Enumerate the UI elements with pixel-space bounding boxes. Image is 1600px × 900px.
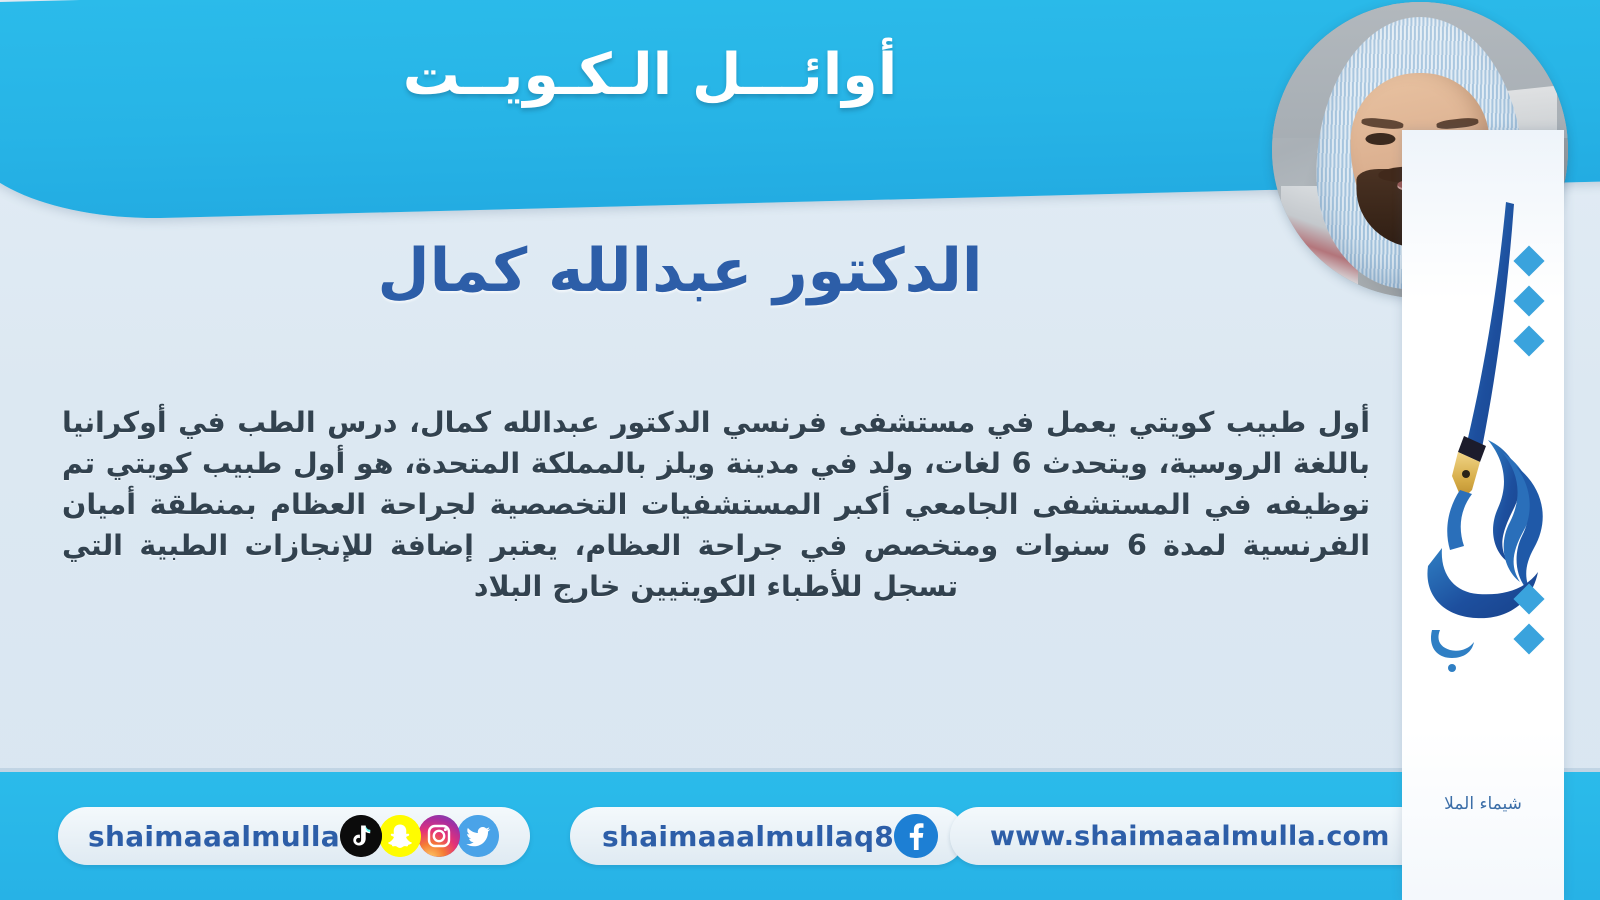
calligraphy-pen-logo-icon bbox=[1402, 190, 1564, 710]
diamond-dot-3 bbox=[1513, 325, 1544, 356]
social-handle-text: shaimaaalmulla bbox=[88, 820, 340, 853]
twitter-icon[interactable] bbox=[457, 815, 499, 857]
nib-vent-hole bbox=[1462, 470, 1470, 478]
brand-logo-panel: شيماء الملا bbox=[1402, 130, 1564, 900]
facebook-icon[interactable] bbox=[894, 814, 938, 858]
eye-left bbox=[1366, 133, 1395, 145]
facebook-handle-pill[interactable]: shaimaaalmullaq8 bbox=[570, 807, 965, 865]
footer-band: shaimaaalmulla shaimaaalmullaq8 www.shai… bbox=[0, 772, 1600, 900]
facebook-handle-text: shaimaaalmullaq8 bbox=[602, 820, 894, 853]
tiktok-icon[interactable] bbox=[340, 815, 382, 857]
eyebrow-right bbox=[1436, 117, 1478, 130]
instagram-icon[interactable] bbox=[418, 815, 460, 857]
diamond-dot-5 bbox=[1513, 623, 1544, 654]
website-url-text: www.shaimaaalmulla.com bbox=[990, 821, 1390, 852]
ba-dot bbox=[1448, 664, 1456, 672]
eyebrow-left bbox=[1361, 117, 1403, 130]
letter-ba bbox=[1431, 630, 1474, 658]
stroke-4 bbox=[1447, 490, 1472, 550]
diamond-dot-2 bbox=[1513, 285, 1544, 316]
snapchat-icon[interactable] bbox=[379, 815, 421, 857]
website-pill[interactable]: www.shaimaaalmulla.com bbox=[950, 807, 1430, 865]
pen-shaft bbox=[1468, 202, 1514, 448]
social-handles-pill[interactable]: shaimaaalmulla bbox=[58, 807, 530, 865]
poster-card: أوائـــل الـكـويــت الدكتور عبدالله كمال… bbox=[0, 0, 1600, 900]
person-name: الدكتور عبدالله كمال bbox=[0, 236, 1360, 306]
article-body: أول طبيب كويتي يعمل في مستشفى فرنسي الدك… bbox=[62, 402, 1370, 607]
brand-caption: شيماء الملا bbox=[1402, 794, 1564, 814]
diamond-dot-1 bbox=[1513, 245, 1544, 276]
